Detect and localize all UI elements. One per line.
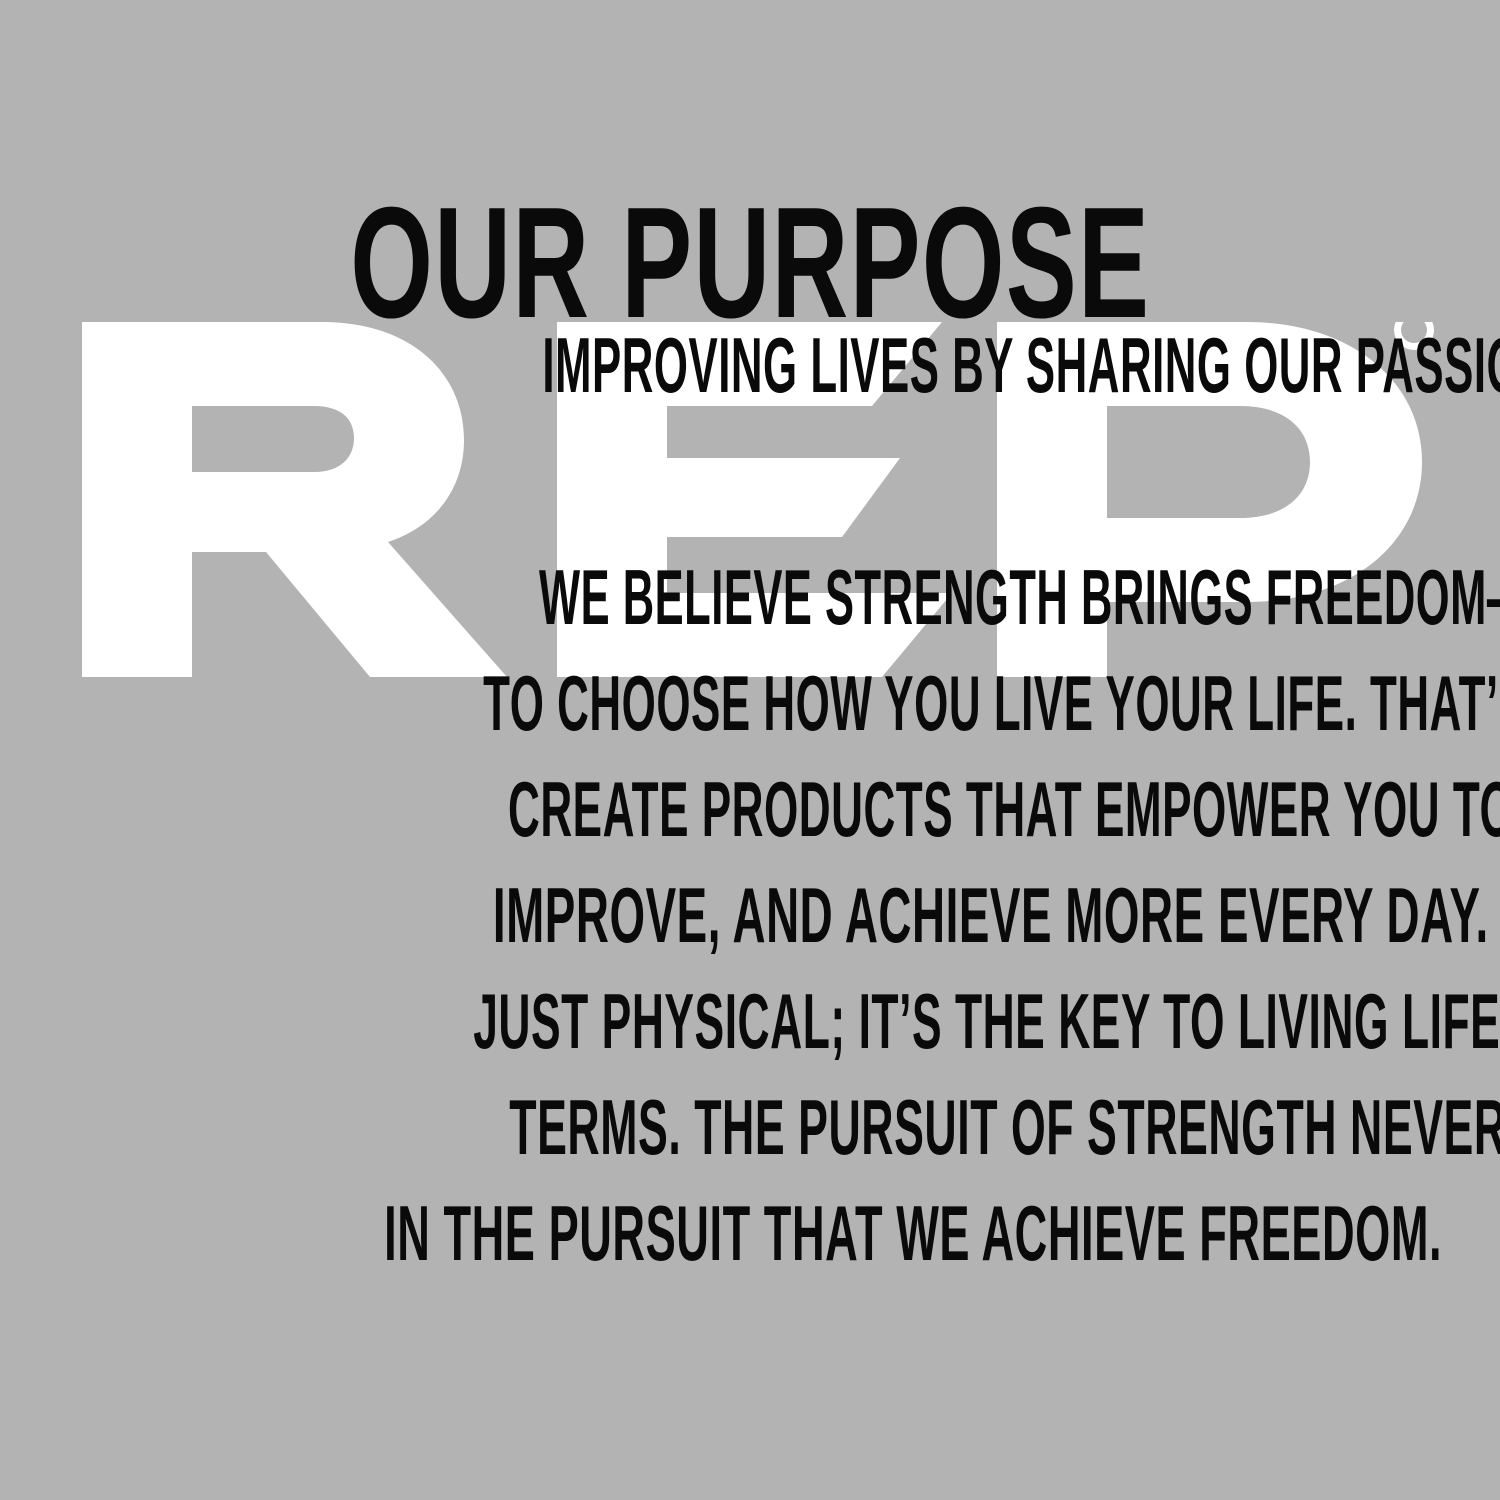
- body-line-5: IMPROVE, AND ACHIEVE MORE EVERY DAY. STR…: [0, 876, 1500, 954]
- body-line-6: JUST PHYSICAL; IT’S THE KEY TO LIVING LI…: [0, 982, 1500, 1060]
- body-line-7: TERMS. THE PURSUIT OF STRENGTH NEVER END…: [0, 1088, 1500, 1166]
- body-line-8: IN THE PURSUIT THAT WE ACHIEVE FREEDOM.: [0, 1194, 1500, 1272]
- page-title-text: OUR PURPOSE: [350, 184, 1150, 342]
- body-line-2-text: WE BELIEVE STRENGTH BRINGS FREEDOM——THE …: [539, 558, 1500, 636]
- body-line-6-text: JUST PHYSICAL; IT’S THE KEY TO LIVING LI…: [473, 982, 1500, 1060]
- body-line-2: WE BELIEVE STRENGTH BRINGS FREEDOM——THE …: [0, 558, 1500, 636]
- body-line-4-text: CREATE PRODUCTS THAT EMPOWER YOU TO TRAN…: [508, 770, 1500, 848]
- body-line-3: TO CHOOSE HOW YOU LIVE YOUR LIFE. THAT’S…: [0, 664, 1500, 742]
- body-line-3-text: TO CHOOSE HOW YOU LIVE YOUR LIFE. THAT’S…: [483, 664, 1500, 742]
- body-line-4: CREATE PRODUCTS THAT EMPOWER YOU TO TRAN…: [0, 770, 1500, 848]
- body-line-5-text: IMPROVE, AND ACHIEVE MORE EVERY DAY. STR…: [493, 876, 1500, 954]
- purpose-statement-poster: OUR PURPOSE IMPROVING LIVES BY SHARING O…: [0, 0, 1500, 1500]
- body-line-1: IMPROVING LIVES BY SHARING OUR PASSION F…: [0, 326, 1500, 404]
- text-layer: OUR PURPOSE IMPROVING LIVES BY SHARING O…: [0, 0, 1500, 1500]
- page-title: OUR PURPOSE: [0, 184, 1500, 342]
- body-line-1-text: IMPROVING LIVES BY SHARING OUR PASSION F…: [542, 326, 1500, 404]
- body-line-8-text: IN THE PURSUIT THAT WE ACHIEVE FREEDOM.: [384, 1194, 1442, 1272]
- body-line-7-text: TERMS. THE PURSUIT OF STRENGTH NEVER END…: [509, 1088, 1500, 1166]
